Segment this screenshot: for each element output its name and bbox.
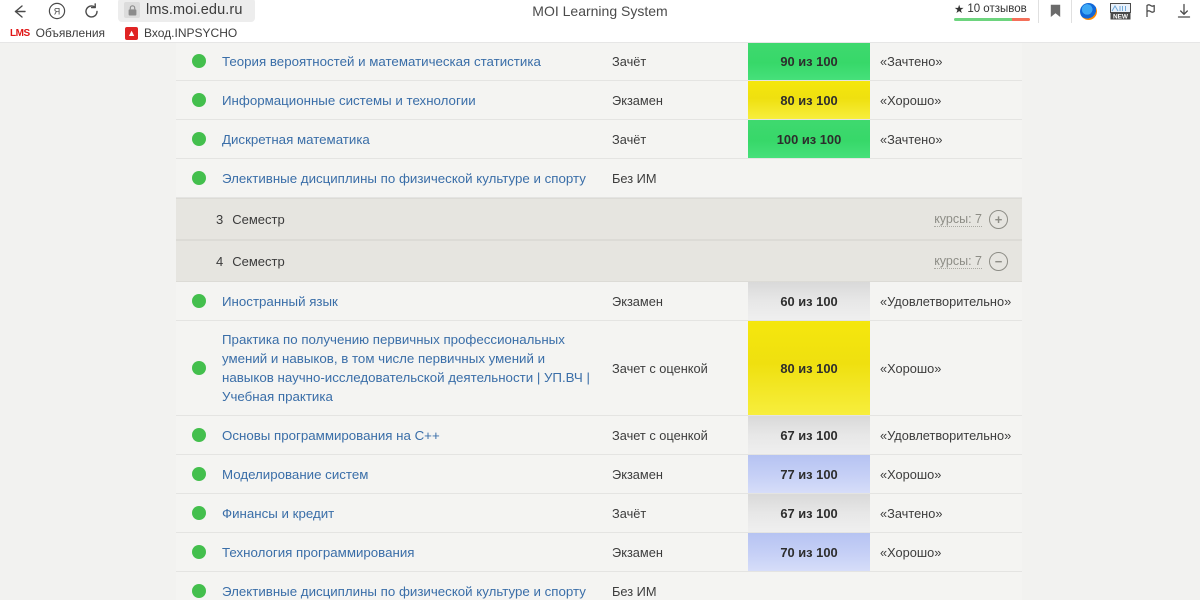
course-name-cell: Основы программирования на C++ [222,416,610,454]
browser-chrome: MOI Learning System Я lms.moi.edu.ru ★ 1… [0,0,1200,42]
score-cell: 100 из 100 [748,120,870,158]
score-value: 90 из 100 [748,42,870,80]
table-row: Финансы и кредитЗачёт67 из 100«Зачтено» [176,494,1022,533]
course-name-cell: Практика по получению первичных професси… [222,321,610,415]
status-cell [176,533,222,571]
score-cell: 80 из 100 [748,81,870,119]
grades-table: Теория вероятностей и математическая ста… [176,42,1022,600]
status-dot-icon [192,428,206,442]
table-row: Моделирование системЭкзамен77 из 100«Хор… [176,455,1022,494]
table-row: Элективные дисциплины по физической куль… [176,572,1022,600]
status-cell [176,321,222,415]
bookmark-item-inpsycho[interactable]: ▲ Вход.INPSYCHO [115,24,247,42]
reviews-rating-bar [954,18,1030,21]
status-dot-icon [192,467,206,481]
course-link[interactable]: Технология программирования [222,543,414,562]
course-name-cell: Информационные системы и технологии [222,81,610,119]
score-value [748,159,870,197]
status-dot-icon [192,584,206,598]
table-row: Дискретная математикаЗачёт100 из 100«Зач… [176,120,1022,159]
course-name-cell: Моделирование систем [222,455,610,493]
back-icon[interactable] [6,0,32,22]
score-value: 80 из 100 [748,81,870,119]
course-name-cell: Иностранный язык [222,282,610,320]
svg-text:Я: Я [54,7,61,17]
page-content: Теория вероятностей и математическая ста… [0,42,1200,600]
table-row: Теория вероятностей и математическая ста… [176,42,1022,81]
status-dot-icon [192,361,206,375]
course-link[interactable]: Элективные дисциплины по физической куль… [222,169,586,188]
status-cell [176,494,222,532]
semester-label: Семестр [232,254,284,269]
score-value [748,572,870,600]
status-dot-icon [192,132,206,146]
semester-header-row[interactable]: 4Семестркурсы: 7− [176,240,1022,282]
score-cell: 60 из 100 [748,282,870,320]
mark-cell: «Зачтено» [870,120,1022,158]
score-value: 77 из 100 [748,455,870,493]
course-name-cell: Элективные дисциплины по физической куль… [222,159,610,197]
course-link[interactable]: Информационные системы и технологии [222,91,476,110]
table-row: Практика по получению первичных професси… [176,321,1022,416]
score-value: 80 из 100 [748,321,870,415]
browser-orbit-icon[interactable] [1072,0,1104,23]
lock-icon [124,2,140,18]
course-link[interactable]: Иностранный язык [222,292,338,311]
status-cell [176,42,222,80]
table-row: Технология программированияЭкзамен70 из … [176,533,1022,572]
mark-cell: «Зачтено» [870,42,1022,80]
score-cell [748,572,870,600]
control-type-cell: Экзамен [610,282,748,320]
status-dot-icon [192,54,206,68]
semester-label: Семестр [232,212,284,227]
score-value: 100 из 100 [748,120,870,158]
bookmarks-bar: LMS Объявления ▲ Вход.INPSYCHO [0,24,1200,43]
status-dot-icon [192,171,206,185]
course-link[interactable]: Элективные дисциплины по физической куль… [222,582,586,600]
course-link[interactable]: Финансы и кредит [222,504,334,523]
control-type-cell: Зачёт [610,42,748,80]
control-type-cell: Без ИМ [610,572,748,600]
status-cell [176,282,222,320]
score-cell [748,159,870,197]
course-link[interactable]: Теория вероятностей и математическая ста… [222,52,541,71]
new-badge-icon[interactable]: NEW [1104,0,1136,23]
status-cell [176,81,222,119]
status-cell [176,159,222,197]
mark-cell: «Удовлетворительно» [870,416,1022,454]
table-row: Основы программирования на C++Зачет с оц… [176,416,1022,455]
flag-icon[interactable] [1136,0,1168,23]
chrome-right-actions: ★ 10 отзывов NEW [948,0,1200,24]
semester-header-row[interactable]: 3Семестркурсы: 7+ [176,198,1022,240]
score-cell: 67 из 100 [748,416,870,454]
semester-toggle-icon[interactable]: + [989,210,1008,229]
score-value: 67 из 100 [748,416,870,454]
lms-logo-icon: LMS [10,28,30,39]
course-name-cell: Теория вероятностей и математическая ста… [222,42,610,80]
semester-number: 4 [216,254,223,269]
mark-cell [870,159,1022,197]
course-name-cell: Дискретная математика [222,120,610,158]
control-type-cell: Зачёт [610,120,748,158]
score-cell: 80 из 100 [748,321,870,415]
course-name-cell: Элективные дисциплины по физической куль… [222,572,610,600]
control-type-cell: Экзамен [610,455,748,493]
mark-cell [870,572,1022,600]
table-row: Элективные дисциплины по физической куль… [176,159,1022,198]
control-type-cell: Зачет с оценкой [610,416,748,454]
star-icon: ★ [954,2,964,16]
reload-icon[interactable] [78,0,104,22]
reviews-badge[interactable]: ★ 10 отзывов [948,0,1039,23]
score-value: 70 из 100 [748,533,870,571]
reviews-label: 10 отзывов [967,3,1026,15]
status-dot-icon [192,294,206,308]
score-cell: 67 из 100 [748,494,870,532]
table-row: Информационные системы и технологииЭкзам… [176,81,1022,120]
status-cell [176,416,222,454]
address-bar[interactable]: lms.moi.edu.ru [118,0,255,22]
status-cell [176,455,222,493]
course-name-cell: Финансы и кредит [222,494,610,532]
bookmark-item-announcements[interactable]: LMS Объявления [0,24,115,42]
semester-number: 3 [216,212,223,227]
mark-cell: «Хорошо» [870,321,1022,415]
course-link[interactable]: Дискретная математика [222,130,370,149]
control-type-cell: Без ИМ [610,159,748,197]
status-dot-icon [192,545,206,559]
browser-toolbar: MOI Learning System Я lms.moi.edu.ru ★ 1… [0,0,1200,22]
control-type-cell: Зачет с оценкой [610,321,748,415]
control-type-cell: Экзамен [610,533,748,571]
bookmark-label: Вход.INPSYCHO [144,26,237,40]
score-cell: 77 из 100 [748,455,870,493]
yandex-logo-icon[interactable]: Я [44,0,70,22]
status-dot-icon [192,93,206,107]
status-cell [176,120,222,158]
status-cell [176,572,222,600]
score-cell: 90 из 100 [748,42,870,80]
course-link[interactable]: Практика по получению первичных професси… [222,330,596,406]
mark-cell: «Хорошо» [870,455,1022,493]
semester-course-count[interactable]: курсы: 7 [934,212,982,227]
mark-cell: «Зачтено» [870,494,1022,532]
control-type-cell: Экзамен [610,81,748,119]
address-bar-url: lms.moi.edu.ru [146,2,243,18]
course-link[interactable]: Моделирование систем [222,465,368,484]
bookmark-icon[interactable] [1039,0,1072,23]
status-dot-icon [192,506,206,520]
download-icon[interactable] [1168,0,1200,23]
score-value: 67 из 100 [748,494,870,532]
mark-cell: «Хорошо» [870,533,1022,571]
semester-course-count[interactable]: курсы: 7 [934,254,982,269]
score-cell: 70 из 100 [748,533,870,571]
control-type-cell: Зачёт [610,494,748,532]
table-row: Иностранный языкЭкзамен60 из 100«Удовлет… [176,282,1022,321]
course-name-cell: Технология программирования [222,533,610,571]
semester-toggle-icon[interactable]: − [989,252,1008,271]
mark-cell: «Удовлетворительно» [870,282,1022,320]
bookmark-label: Объявления [36,26,105,40]
course-link[interactable]: Основы программирования на C++ [222,426,440,445]
score-value: 60 из 100 [748,282,870,320]
inpsycho-logo-icon: ▲ [125,27,138,40]
mark-cell: «Хорошо» [870,81,1022,119]
svg-text:NEW: NEW [1113,13,1129,20]
